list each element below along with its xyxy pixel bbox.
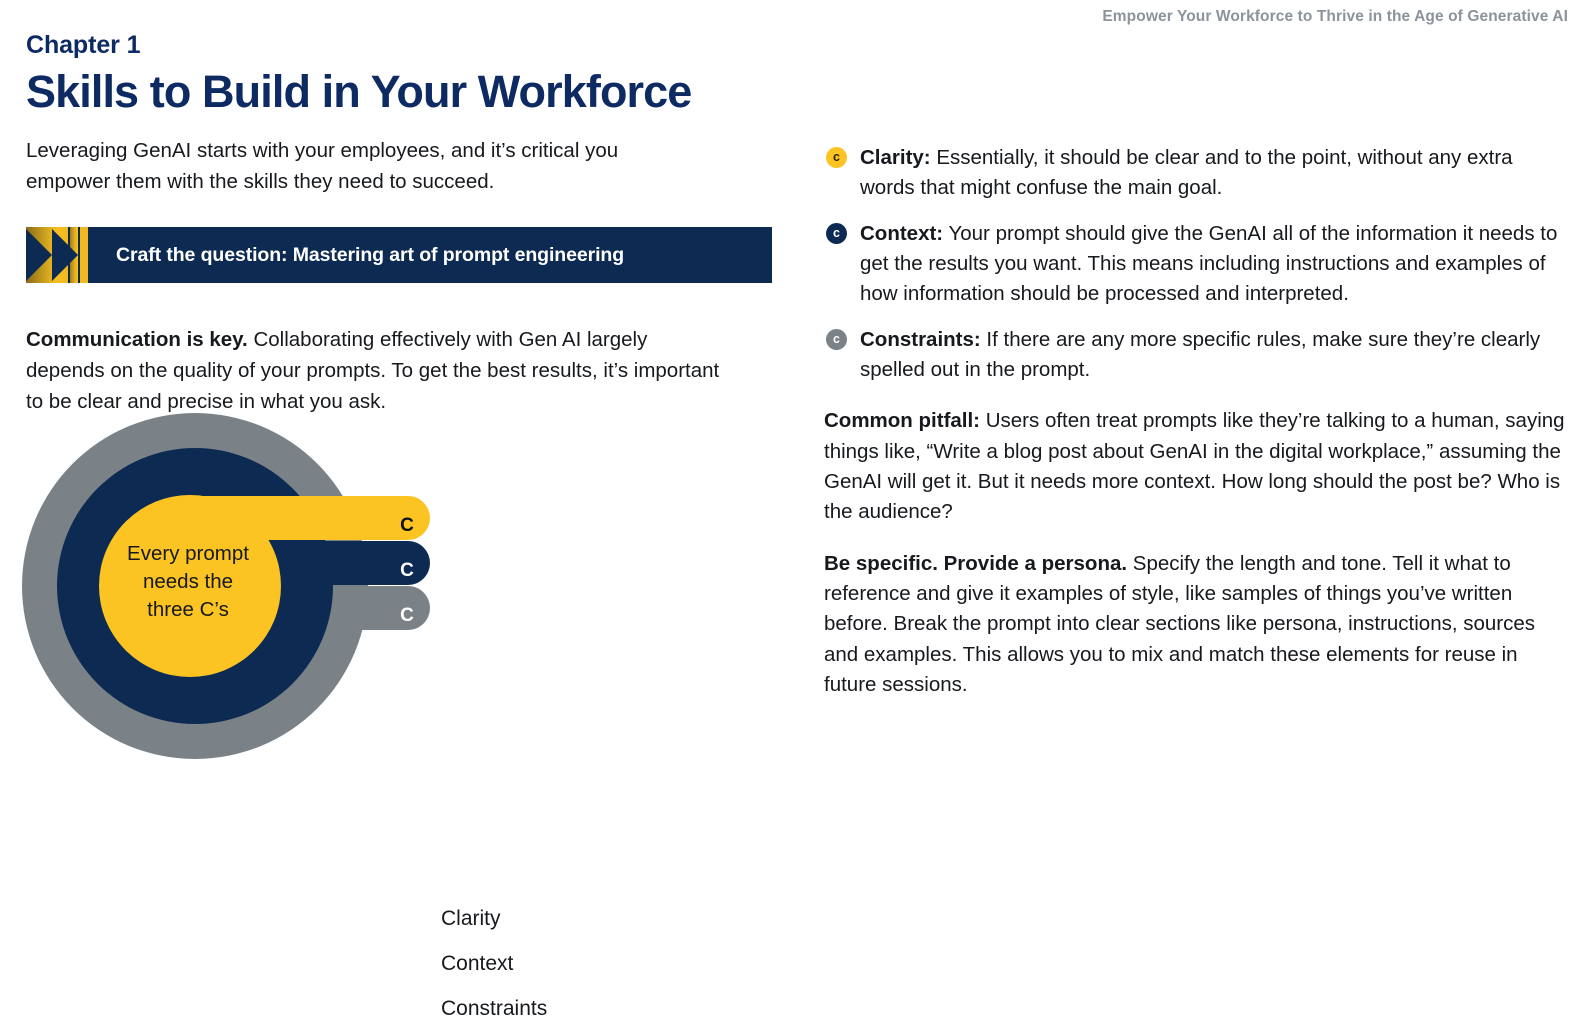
list-item-term: Clarity: [860, 146, 931, 169]
list-item-text: Your prompt should give the GenAI all of… [860, 222, 1557, 306]
diagram-letter-constraints: C [400, 605, 414, 626]
diagram-center-line-2: three C’s [147, 598, 229, 621]
common-pitfall-paragraph: Common pitfall: Users often treat prompt… [824, 406, 1572, 527]
list-item: c Constraints: If there are any more spe… [824, 325, 1572, 386]
double-chevron-icon [26, 227, 88, 283]
list-item-term: Constraints: [860, 328, 981, 351]
be-specific-paragraph: Be specific. Provide a persona. Specify … [824, 549, 1572, 701]
banner-title: Craft the question: Mastering art of pro… [116, 244, 624, 267]
diagram-label-clarity: Clarity [441, 908, 501, 929]
chapter-label: Chapter 1 [26, 32, 786, 60]
right-column: c Clarity: Essentially, it should be cle… [824, 143, 1572, 700]
list-item-text: Essentially, it should be clear and to t… [860, 146, 1513, 199]
diagram-center-line-1: needs the [143, 570, 233, 593]
list-item: c Context: Your prompt should give the G… [824, 219, 1572, 310]
c-badge-context-icon: c [826, 223, 847, 244]
list-item: c Clarity: Essentially, it should be cle… [824, 143, 1572, 204]
body-paragraph-lead: Communication is key. [26, 328, 248, 351]
section-banner: Craft the question: Mastering art of pro… [26, 227, 772, 283]
list-item-term: Context: [860, 222, 943, 245]
c-badge-constraints-icon: c [826, 329, 847, 350]
page-title: Skills to Build in Your Workforce [26, 68, 786, 117]
three-cs-diagram: C C C Every prompt needs the three C’s C… [0, 398, 620, 759]
common-pitfall-lead: Common pitfall: [824, 409, 980, 432]
three-cs-list: c Clarity: Essentially, it should be cle… [824, 143, 1572, 385]
c-badge-clarity-icon: c [826, 147, 847, 168]
diagram-center-line-0: Every prompt [127, 542, 249, 565]
intro-paragraph: Leveraging GenAI starts with your employ… [26, 136, 706, 198]
left-column: Chapter 1 Skills to Build in Your Workfo… [26, 32, 786, 198]
diagram-letter-clarity: C [400, 515, 414, 536]
document-page: Empower Your Workforce to Thrive in the … [0, 0, 1590, 759]
running-head: Empower Your Workforce to Thrive in the … [1102, 8, 1568, 26]
diagram-label-constraints: Constraints [441, 998, 547, 1019]
diagram-letter-context: C [400, 560, 414, 581]
diagram-label-context: Context [441, 953, 513, 974]
be-specific-lead: Be specific. Provide a persona. [824, 552, 1127, 575]
